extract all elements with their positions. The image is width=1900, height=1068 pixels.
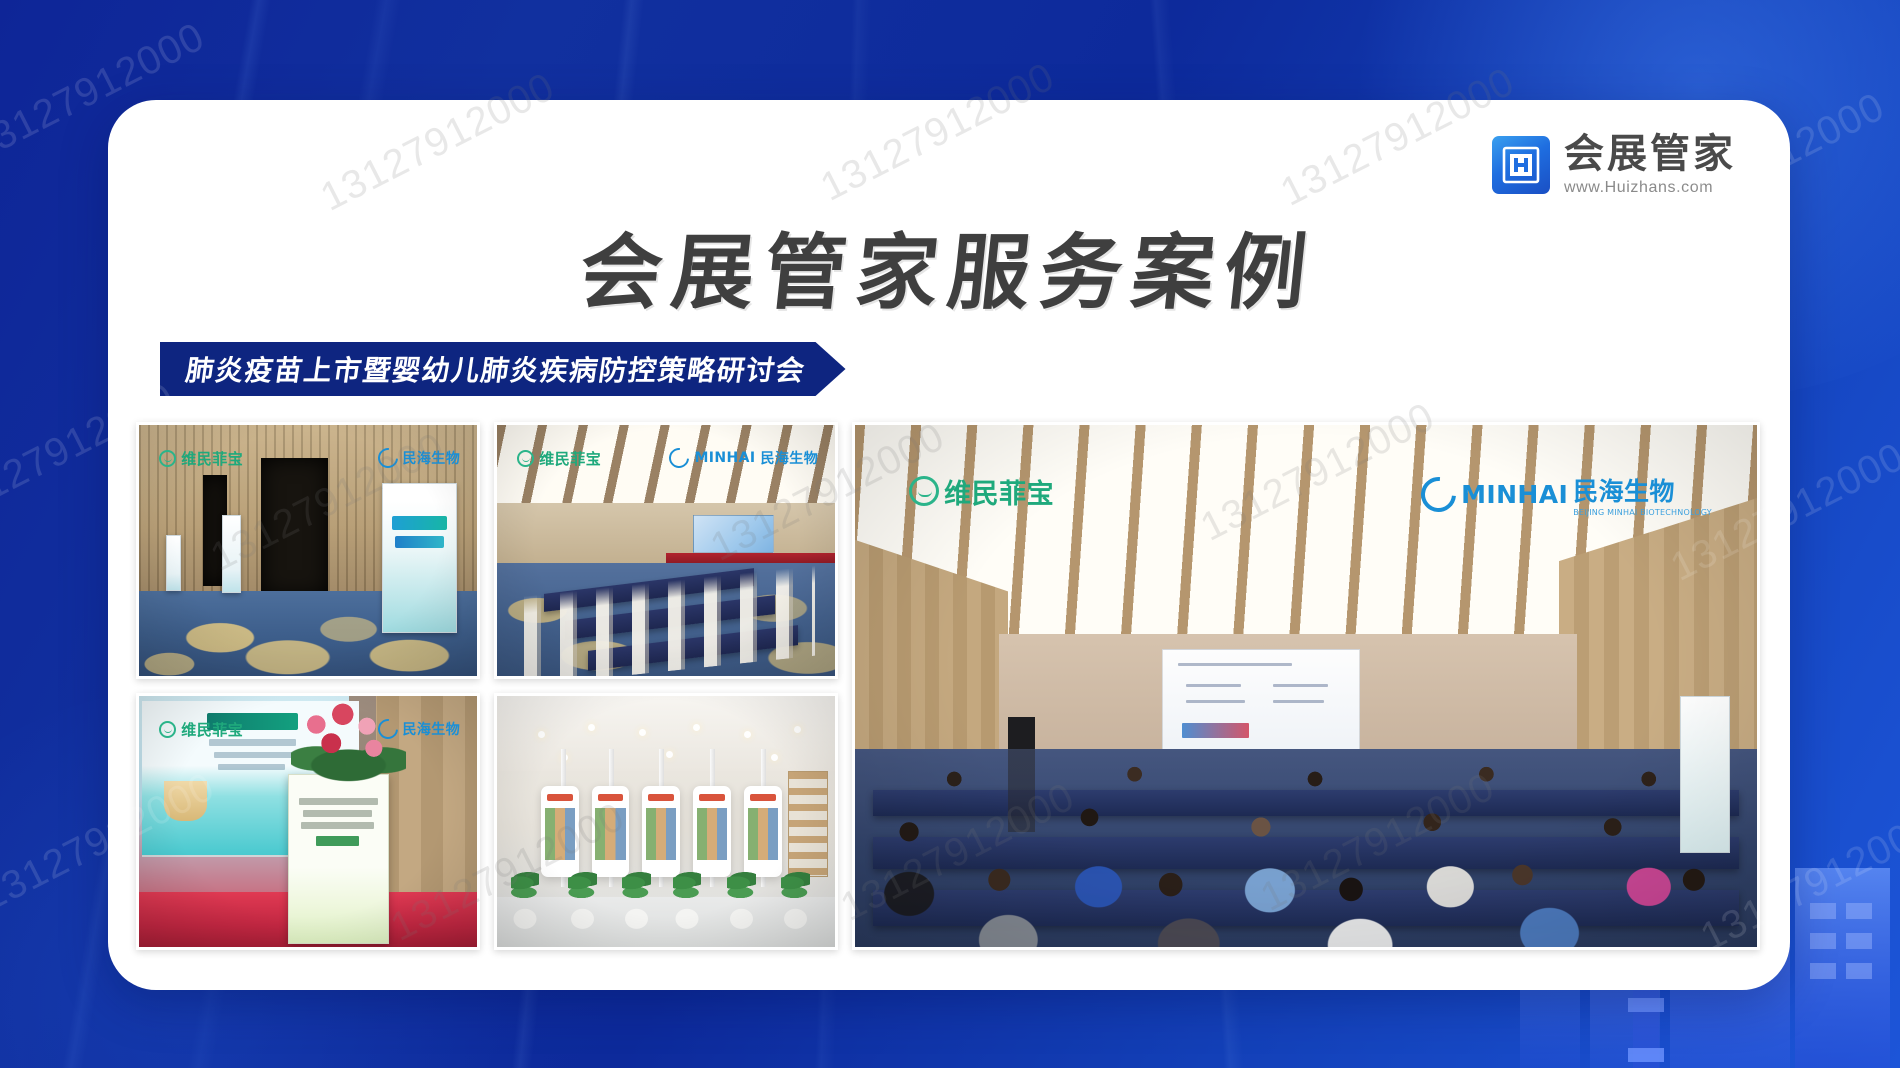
photo-exhibition-boards[interactable] xyxy=(494,693,838,950)
overlay-logo-text-cn: 民海生物 xyxy=(761,448,819,468)
overlay-logo-weiminfeibao: 维民菲宝 xyxy=(159,719,243,740)
brand-logo[interactable]: 会展管家 www.Huizhans.com xyxy=(1492,134,1736,196)
event-banner: 肺炎疫苗上市暨婴幼儿肺炎疾病防控策略研讨会 xyxy=(160,342,846,396)
page-title: 会展管家服务案例 xyxy=(575,206,1324,325)
overlay-logo-weiminfeibao: 维民菲宝 xyxy=(159,448,243,469)
smiley-ring-icon xyxy=(159,721,176,738)
brand-name: 会展管家 xyxy=(1564,134,1736,174)
photo-stage-backdrop[interactable]: 维民菲宝 民海生物 xyxy=(136,693,480,950)
brand-url: www.Huizhans.com xyxy=(1564,180,1736,196)
minhai-c-icon xyxy=(665,443,693,471)
overlay-logo-minhai: 民海生物 xyxy=(378,719,461,739)
overlay-logo-text: MINHAI xyxy=(1461,480,1568,509)
overlay-logo-text: 维民菲宝 xyxy=(539,448,601,469)
overlay-logo-text: 维民菲宝 xyxy=(181,719,243,740)
overlay-logo-text: 维民菲宝 xyxy=(181,448,243,469)
smiley-ring-icon xyxy=(159,450,176,467)
minhai-c-icon xyxy=(1414,470,1463,519)
slide-canvas: 会展管家 www.Huizhans.com 会展管家服务案例 肺炎疫苗上市暨婴幼… xyxy=(0,0,1900,1068)
photo-venue-entrance[interactable]: 维民菲宝 民海生物 xyxy=(136,422,480,679)
smiley-ring-icon xyxy=(909,476,939,506)
photo-conference-room[interactable]: 维民菲宝 MINHAI 民海生物 xyxy=(494,422,838,679)
scene-exhibition xyxy=(497,696,835,947)
overlay-logo-weiminfeibao: 维民菲宝 xyxy=(517,448,601,469)
overlay-logo-weiminfeibao: 维民菲宝 xyxy=(909,472,1054,511)
photo-main-hall-audience[interactable]: 维民菲宝 MINHAI 民海生物 BEIJING MINHAI BIOTECHN… xyxy=(852,422,1760,950)
event-banner-text: 肺炎疫苗上市暨婴幼儿肺炎疾病防控策略研讨会 xyxy=(183,349,808,389)
minhai-c-icon xyxy=(373,714,401,742)
overlay-logo-text: 民海生物 xyxy=(403,448,461,468)
overlay-logo-minhai: MINHAI 民海生物 BEIJING MINHAI BIOTECHNOLOGY xyxy=(1421,472,1712,517)
photo-gallery: 维民菲宝 民海生物 xyxy=(136,422,1760,950)
overlay-logo-minhai: 民海生物 xyxy=(378,448,461,468)
overlay-logo-minhai: MINHAI 民海生物 xyxy=(669,448,818,468)
minhai-c-icon xyxy=(373,443,401,471)
smiley-ring-icon xyxy=(517,450,534,467)
overlay-logo-text: MINHAI xyxy=(694,450,755,466)
content-card: 会展管家 www.Huizhans.com 会展管家服务案例 肺炎疫苗上市暨婴幼… xyxy=(108,100,1790,990)
page-title-wrap: 会展管家服务案例 xyxy=(108,206,1790,325)
overlay-logo-text: 维民菲宝 xyxy=(944,472,1054,511)
h-square-logo-icon xyxy=(1492,136,1550,194)
overlay-logo-text-cn: 民海生物 xyxy=(1573,477,1675,506)
overlay-logo-text-en: BEIJING MINHAI BIOTECHNOLOGY xyxy=(1573,508,1712,517)
overlay-logo-block: 民海生物 BEIJING MINHAI BIOTECHNOLOGY xyxy=(1573,472,1712,517)
overlay-logo-text: 民海生物 xyxy=(403,719,461,739)
